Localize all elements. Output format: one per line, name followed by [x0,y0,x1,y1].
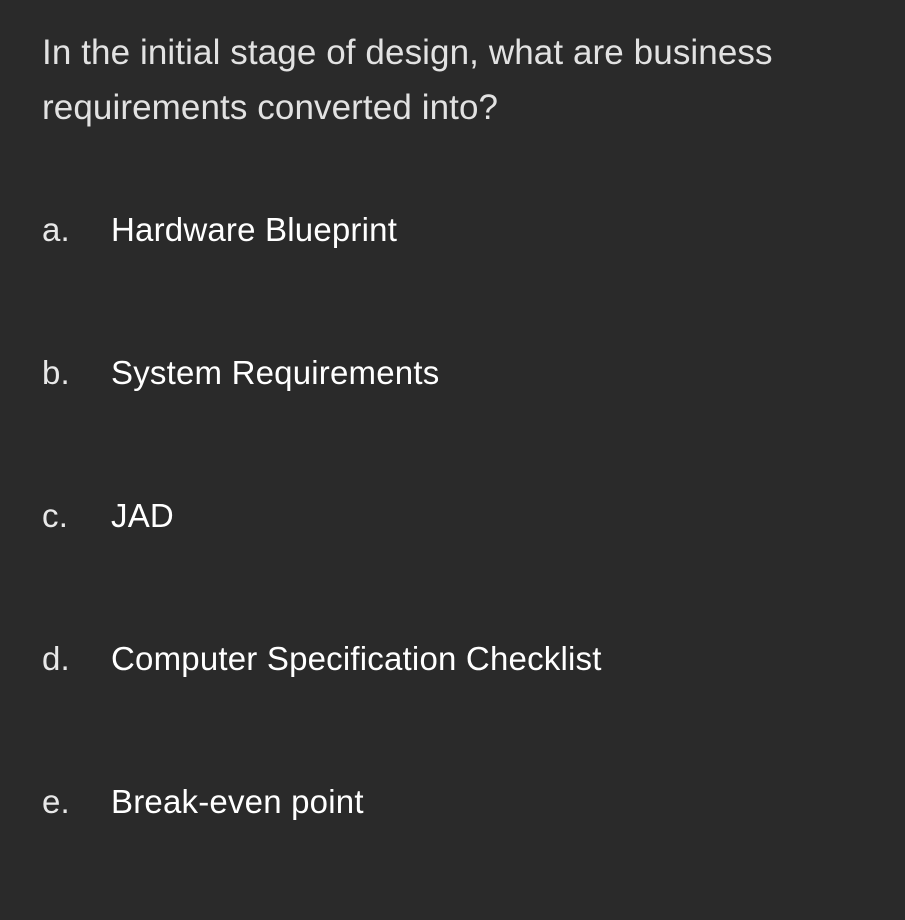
option-label-b: b. [42,348,111,398]
option-text-d: Computer Specification Checklist [111,634,905,684]
quiz-question-card: In the initial stage of design, what are… [0,0,905,872]
option-text-e: Break-even point [111,777,905,827]
answer-option-d[interactable]: d. Computer Specification Checklist [0,634,905,777]
answer-option-e[interactable]: e. Break-even point [0,777,905,920]
option-text-b: System Requirements [111,348,905,398]
option-label-d: d. [42,634,111,684]
answer-option-c[interactable]: c. JAD [0,491,905,634]
option-label-e: e. [42,777,111,827]
option-text-c: JAD [111,491,905,541]
option-label-a: a. [42,205,111,255]
answer-options-list: a. Hardware Blueprint b. System Requirem… [0,205,905,920]
answer-option-b[interactable]: b. System Requirements [0,348,905,491]
question-stem: In the initial stage of design, what are… [42,25,854,135]
option-text-a: Hardware Blueprint [111,205,905,255]
option-label-c: c. [42,491,111,541]
answer-option-a[interactable]: a. Hardware Blueprint [0,205,905,348]
